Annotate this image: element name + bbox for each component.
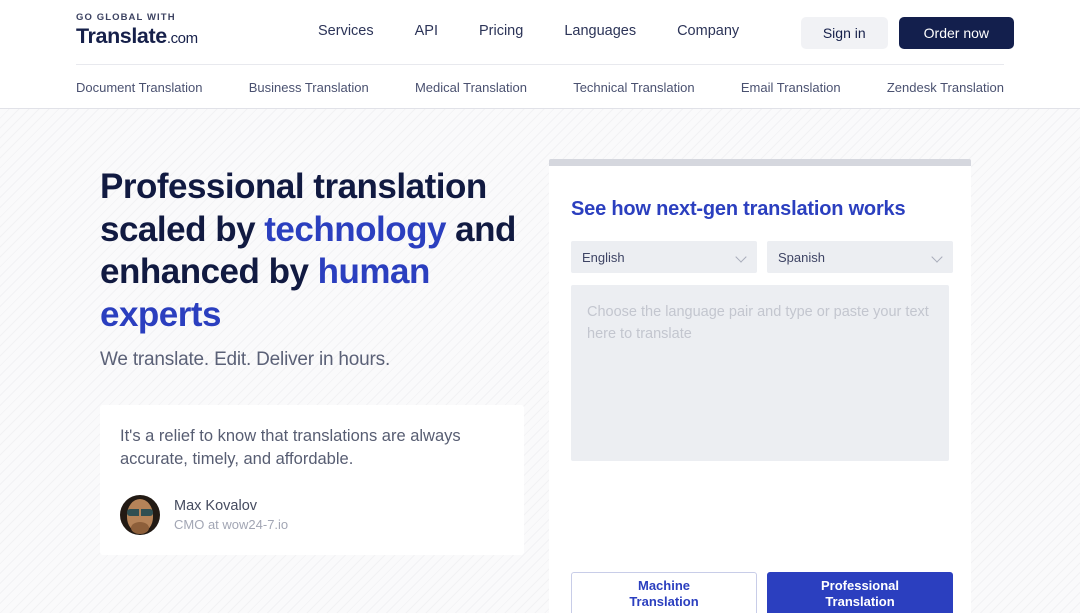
professional-button-line-2: Translation: [821, 594, 899, 610]
testimonial-author-role: CMO at wow24-7.io: [174, 517, 288, 532]
nav-item-company[interactable]: Company: [677, 23, 739, 39]
professional-button-line-1: Professional: [821, 578, 899, 594]
logo-name: Translate: [76, 24, 167, 48]
page-root: GO GLOBAL WITH Translate.com Services AP…: [0, 0, 1080, 613]
subnav-item-document-translation[interactable]: Document Translation: [76, 80, 202, 95]
professional-translation-button[interactable]: Professional Translation: [767, 572, 953, 613]
logo-wordmark: Translate.com: [76, 26, 198, 48]
subnav-item-technical-translation[interactable]: Technical Translation: [573, 80, 694, 95]
chevron-down-icon: [931, 251, 942, 262]
widget-top-bar: [549, 159, 971, 166]
header-actions: Sign in Order now: [801, 17, 1014, 49]
logo-suffix: .com: [167, 30, 198, 47]
hero-subheadline: We translate. Edit. Deliver in hours.: [100, 349, 540, 371]
machine-translation-button[interactable]: Machine Translation: [571, 572, 757, 613]
source-language-select[interactable]: English: [571, 241, 757, 273]
target-language-value: Spanish: [778, 250, 825, 265]
headline-highlight-technology: technology: [264, 210, 446, 249]
nav-item-api[interactable]: API: [415, 23, 438, 39]
main-navigation: Services API Pricing Languages Company: [318, 23, 739, 39]
nav-item-pricing[interactable]: Pricing: [479, 23, 523, 39]
logo-tagline: GO GLOBAL WITH: [76, 13, 198, 23]
site-logo[interactable]: GO GLOBAL WITH Translate.com: [76, 13, 198, 47]
site-header: GO GLOBAL WITH Translate.com Services AP…: [0, 0, 1080, 64]
sign-in-button[interactable]: Sign in: [801, 17, 888, 49]
machine-button-line-1: Machine: [629, 578, 698, 594]
machine-button-line-2: Translation: [629, 594, 698, 610]
translation-mode-row: Machine Translation Professional Transla…: [571, 572, 953, 613]
translation-widget: See how next-gen translation works Engli…: [549, 166, 971, 613]
nav-item-services[interactable]: Services: [318, 23, 374, 39]
avatar: [120, 495, 160, 535]
page-title: Professional translation scaled by techn…: [100, 166, 540, 337]
widget-title: See how next-gen translation works: [571, 198, 905, 221]
testimonial-quote: It's a relief to know that translations …: [120, 425, 510, 472]
testimonial-author: Max Kovalov CMO at wow24-7.io: [120, 495, 288, 535]
chevron-down-icon: [735, 251, 746, 262]
nav-item-languages[interactable]: Languages: [564, 23, 636, 39]
testimonial-author-name: Max Kovalov: [174, 498, 288, 514]
hero-section: Professional translation scaled by techn…: [0, 109, 1080, 613]
language-pair-row: English Spanish: [571, 241, 953, 273]
testimonial-card: It's a relief to know that translations …: [100, 405, 524, 555]
order-now-button[interactable]: Order now: [899, 17, 1014, 49]
translation-input[interactable]: [571, 285, 949, 461]
subnav-item-email-translation[interactable]: Email Translation: [741, 80, 841, 95]
source-language-value: English: [582, 250, 625, 265]
subnav-item-business-translation[interactable]: Business Translation: [249, 80, 369, 95]
sub-navigation: Document Translation Business Translatio…: [0, 65, 1080, 109]
subnav-item-zendesk-translation[interactable]: Zendesk Translation: [887, 80, 1004, 95]
subnav-item-medical-translation[interactable]: Medical Translation: [415, 80, 527, 95]
target-language-select[interactable]: Spanish: [767, 241, 953, 273]
